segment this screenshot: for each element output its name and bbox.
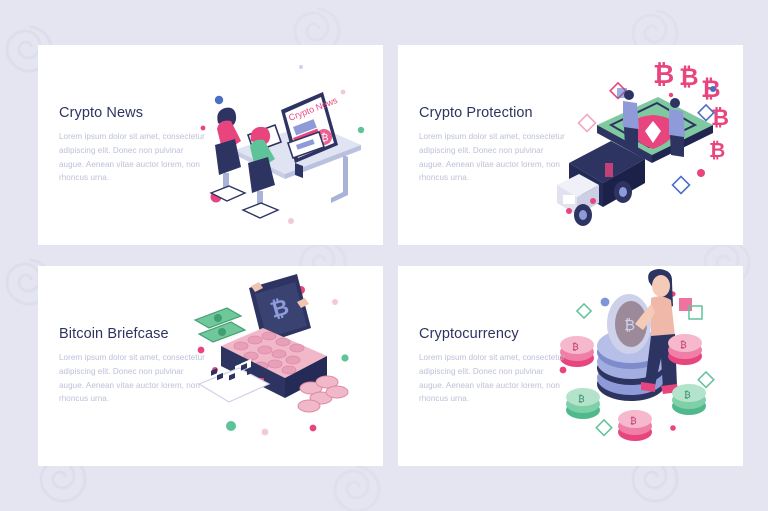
- card-text-block: Crypto Protection Lorem ipsum dolor sit …: [419, 105, 569, 186]
- pink-coin-stack: ₿: [618, 410, 652, 441]
- truck-wheel-hub: [619, 187, 627, 197]
- decorative-dot: [299, 65, 303, 69]
- decorative-dot: [669, 93, 673, 97]
- truck-light: [566, 208, 572, 214]
- cryptocurrency-illustration: ₿ ₿: [553, 266, 743, 466]
- card-bitcoin-briefcase[interactable]: Bitcoin Briefcase Lorem ipsum dolor sit …: [38, 266, 383, 466]
- decorative-dot: [601, 298, 610, 307]
- card-crypto-protection[interactable]: Crypto Protection Lorem ipsum dolor sit …: [398, 45, 743, 245]
- person-body: [623, 101, 639, 129]
- person-legs: [624, 127, 638, 149]
- bitcoin-briefcase-illustration: ₿: [193, 266, 383, 466]
- page-title: Crypto Protection: [419, 105, 569, 121]
- crypto-news-illustration: Crypto News ₿: [193, 45, 383, 245]
- green-coin-stack: ₿: [566, 388, 600, 419]
- decorative-square: [673, 177, 690, 194]
- decorative-dot: [215, 96, 223, 104]
- card-grid: Crypto News Lorem ipsum dolor sit amet, …: [38, 45, 733, 466]
- bitcoin-glyph: ₿: [572, 342, 579, 352]
- page-title: Bitcoin Briefcase: [59, 326, 209, 342]
- decorative-dot: [341, 354, 348, 361]
- card-body-text: Lorem ipsum dolor sit amet, consectetur …: [59, 130, 209, 186]
- card-text-block: Crypto News Lorem ipsum dolor sit amet, …: [59, 105, 209, 186]
- decorative-dot: [288, 218, 294, 224]
- decorative-square: [579, 115, 596, 132]
- truck-wheel-hub: [579, 210, 587, 220]
- truck-window: [563, 195, 575, 204]
- page-title: Cryptocurrency: [419, 326, 569, 342]
- decorative-dot: [310, 425, 317, 432]
- decorative-square: [698, 372, 714, 388]
- card-body-text: Lorem ipsum dolor sit amet, consectetur …: [59, 351, 209, 407]
- decorative-dot: [697, 169, 705, 177]
- chair-base: [243, 203, 278, 218]
- pink-coin-stack: ₿: [668, 334, 702, 365]
- bitcoin-glyph: ₿: [630, 416, 637, 426]
- card-body-text: Lorem ipsum dolor sit amet, consectetur …: [419, 130, 569, 186]
- page-title: Crypto News: [59, 105, 209, 121]
- person-legs: [670, 135, 684, 157]
- person-head: [670, 98, 680, 108]
- watermark-spiral: [330, 462, 384, 511]
- decorative-square: [679, 298, 692, 311]
- card-text-block: Bitcoin Briefcase Lorem ipsum dolor sit …: [59, 326, 209, 407]
- crypto-protection-illustration: ₿ ₿ ₿ ₿ ₿: [553, 45, 743, 245]
- bitcoin-glyph: ₿: [578, 394, 585, 404]
- decorative-dot: [358, 127, 364, 133]
- truck-light: [590, 198, 596, 204]
- decorative-dot: [710, 86, 716, 92]
- decorative-square: [577, 304, 591, 318]
- decorative-dot: [670, 425, 676, 431]
- decorative-dot: [262, 429, 269, 436]
- woman-head: [652, 275, 670, 297]
- truck-stripe: [605, 163, 613, 177]
- decorative-dot: [332, 299, 338, 305]
- decorative-dot: [341, 90, 346, 95]
- decorative-dot: [226, 421, 236, 431]
- person-body: [669, 109, 685, 137]
- bitcoin-glyph: ₿: [711, 105, 729, 130]
- decorative-square: [596, 420, 612, 436]
- card-crypto-news[interactable]: Crypto News Lorem ipsum dolor sit amet, …: [38, 45, 383, 245]
- person-head: [624, 90, 634, 100]
- green-coin-stack: ₿: [672, 384, 706, 415]
- bill-emblem: [214, 314, 222, 322]
- poster-canvas: Crypto News Lorem ipsum dolor sit amet, …: [0, 0, 768, 511]
- bitcoin-glyph: ₿: [679, 64, 699, 91]
- bitcoin-glyph: ₿: [684, 390, 691, 400]
- bitcoin-glyph: ₿: [653, 59, 674, 89]
- bitcoin-glyph: ₿: [624, 317, 635, 334]
- bitcoin-glyph: ₿: [680, 340, 687, 350]
- card-text-block: Cryptocurrency Lorem ipsum dolor sit ame…: [419, 326, 569, 407]
- card-body-text: Lorem ipsum dolor sit amet, consectetur …: [419, 351, 569, 407]
- bitcoin-glyph: ₿: [709, 140, 725, 162]
- bill-emblem: [218, 328, 226, 336]
- card-cryptocurrency[interactable]: Cryptocurrency Lorem ipsum dolor sit ame…: [398, 266, 743, 466]
- person-legs: [215, 139, 241, 175]
- desk-leg: [331, 155, 348, 203]
